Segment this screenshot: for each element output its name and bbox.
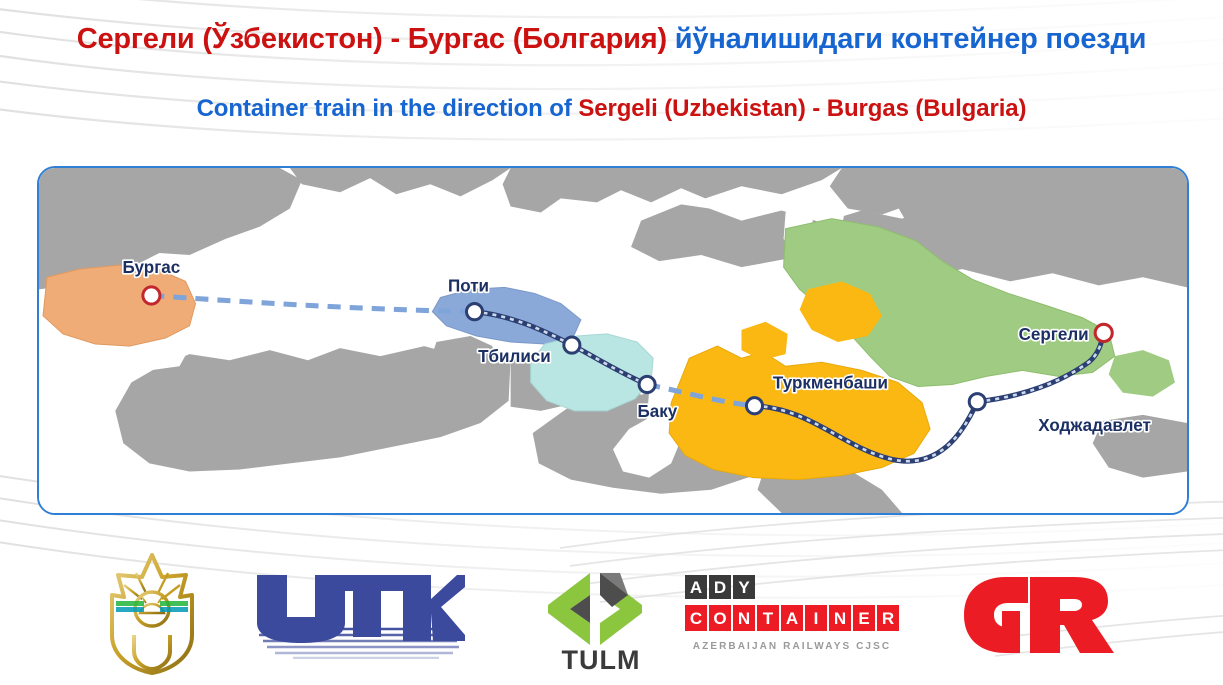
route-map-svg: Бургас Поти Тбилиси Баку Туркменбаши Ход…: [39, 168, 1187, 513]
city-marker-burgas[interactable]: [143, 287, 160, 304]
logo-uzbekistan-railways[interactable]: [96, 551, 208, 677]
city-marker-khojadavlet[interactable]: [969, 394, 985, 410]
ady-top-tiles: A D Y: [685, 575, 755, 599]
ady-subtitle: AZERBAIJAN RAILWAYS CJSC: [693, 641, 891, 652]
svg-text:A: A: [786, 609, 798, 628]
svg-text:N: N: [738, 609, 750, 628]
logo-ady-container[interactable]: A D Y C O N T: [683, 575, 915, 657]
title-ru-red-part: Сергели (Ўзбекистон) - Бургас (Болгария): [77, 23, 675, 55]
title-en-red-part: Sergeli (Uzbekistan) - Burgas (Bulgaria): [578, 95, 1026, 122]
city-marker-poti[interactable]: [466, 304, 482, 320]
logo-utk[interactable]: [253, 573, 465, 659]
gr-logo-icon: [962, 575, 1122, 659]
title-ru-blue-part: йўналишидаги контейнер поезди: [675, 23, 1147, 55]
slide-root: Сергели (Ўзбекистон) - Бургас (Болгария)…: [0, 0, 1223, 685]
city-label-poti: Поти: [448, 276, 489, 295]
city-label-tbilisi: Тбилиси: [478, 347, 551, 366]
city-marker-turkmenbashi[interactable]: [746, 398, 762, 414]
svg-text:C: C: [690, 609, 702, 628]
ady-letter-d: D: [714, 578, 726, 597]
logo-tulm[interactable]: TULM: [536, 565, 666, 675]
ady-letter-y: Y: [738, 578, 750, 597]
utk-logo-icon: [253, 573, 465, 659]
tulm-logo-icon: TULM: [536, 565, 666, 675]
country-bulgaria: [43, 265, 196, 346]
city-label-sergeli: Сергели: [1019, 325, 1089, 344]
partner-logos: TULM A D Y: [0, 535, 1223, 685]
tulm-wordmark: TULM: [562, 645, 641, 675]
page-title-en: Container train in the direction of Serg…: [197, 94, 1027, 124]
svg-text:N: N: [834, 609, 846, 628]
city-label-khojadavlet: Ходжадавлет: [1038, 416, 1151, 435]
uzbekistan-railways-emblem-icon: [96, 551, 208, 677]
city-marker-tbilisi[interactable]: [564, 337, 580, 353]
ady-letter-a: A: [690, 578, 702, 597]
city-marker-baku[interactable]: [639, 376, 655, 392]
city-marker-sergeli[interactable]: [1095, 324, 1112, 341]
country-azerbaijan: [531, 334, 653, 411]
svg-text:I: I: [814, 609, 819, 628]
svg-text:T: T: [763, 609, 774, 628]
ady-container-tiles: C O N T A I N E R: [685, 605, 899, 631]
logo-georgian-railway[interactable]: [962, 575, 1122, 659]
city-label-turkmenbashi: Туркменбаши: [773, 373, 888, 392]
city-label-baku: Баку: [637, 402, 677, 421]
ady-container-logo-icon: A D Y C O N T: [683, 575, 915, 657]
svg-text:E: E: [858, 609, 869, 628]
route-map[interactable]: Бургас Поти Тбилиси Баку Туркменбаши Ход…: [37, 166, 1189, 515]
svg-text:R: R: [882, 609, 894, 628]
svg-text:O: O: [713, 609, 726, 628]
city-label-burgas: Бургас: [123, 258, 181, 277]
title-en-blue-part: Container train in the direction of: [197, 95, 579, 122]
page-title-ru: Сергели (Ўзбекистон) - Бургас (Болгария)…: [77, 22, 1147, 56]
